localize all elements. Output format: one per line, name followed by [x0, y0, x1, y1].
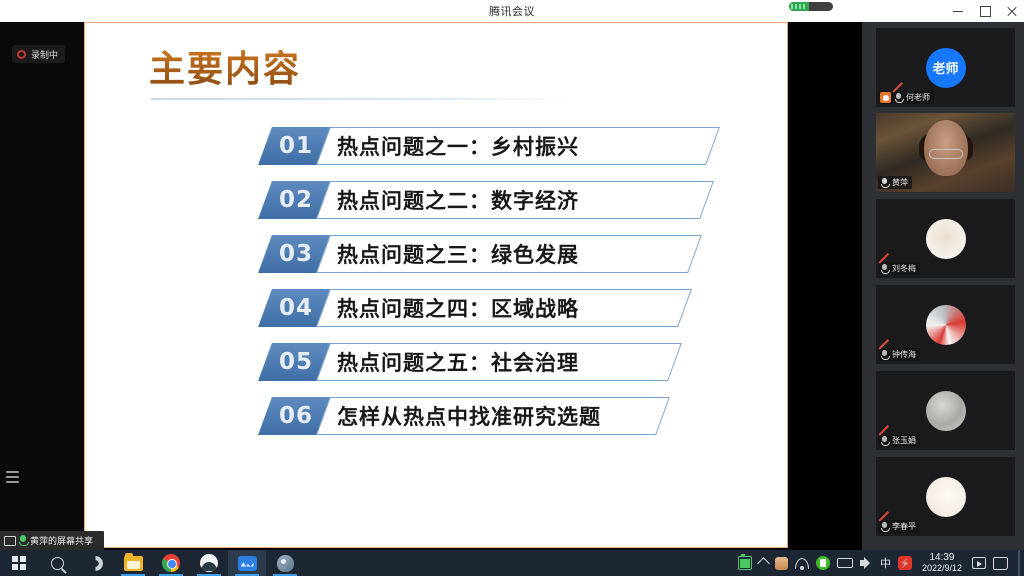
participant-label: 张玉娟: [878, 434, 920, 447]
participant-label: 黄萍: [878, 176, 912, 189]
taskbar-button-paint[interactable]: [266, 550, 304, 576]
microphone-muted-icon: [880, 521, 889, 532]
slide-item-text-wrap: 热点问题之一：乡村振兴: [337, 127, 727, 165]
shared-content-stage: 录制中 主要内容 01热点问题之一：乡村振兴02热点问题之二：数字经济03热点问…: [0, 22, 862, 550]
slide-item-number: 03: [279, 241, 313, 267]
taskbar-button-start[interactable]: [0, 550, 38, 576]
wifi-icon[interactable]: [795, 558, 809, 569]
participant-tile[interactable]: 钟传海: [876, 285, 1015, 364]
participant-label: 钟传海: [878, 348, 920, 361]
slide-item-text: 怎样从热点中找准研究选题: [337, 401, 601, 431]
shared-slide: 主要内容 01热点问题之一：乡村振兴02热点问题之二：数字经济03热点问题之三：…: [84, 22, 788, 548]
participant-name: 李春平: [892, 521, 916, 532]
windows-logo-icon: [12, 556, 26, 570]
title-underline: [151, 98, 581, 100]
left-rail: 录制中: [0, 22, 84, 550]
tencent-meeting-icon: [238, 556, 257, 571]
participant-label: 李春平: [878, 520, 920, 533]
participant-label: 刘冬梅: [878, 262, 920, 275]
network-quality-icon[interactable]: [789, 2, 833, 11]
participant-name: 刘冬梅: [892, 263, 916, 274]
search-icon: [51, 557, 64, 570]
battery-icon[interactable]: [738, 556, 752, 570]
slide-item: 02热点问题之二：数字经济: [265, 176, 757, 224]
participant-tile[interactable]: 黄萍: [876, 113, 1015, 192]
slide-item-text-wrap: 热点问题之三：绿色发展: [337, 235, 709, 273]
slide-item-number: 02: [279, 187, 313, 213]
tencent-meeting-window: 腾讯会议 录制中 主要内容 01热点问题之一：乡村振兴02热点问题之二：数字经济…: [0, 0, 1024, 576]
chevron-up-icon[interactable]: [757, 557, 770, 570]
slide-item-number: 06: [279, 403, 313, 429]
participant-tile[interactable]: 张玉娟: [876, 371, 1015, 450]
slide-item-number: 01: [279, 133, 313, 159]
participant-label: 何老师: [878, 91, 934, 104]
avatar: [926, 305, 966, 345]
folder-icon: [124, 556, 143, 571]
participant-name: 张玉娟: [892, 435, 916, 446]
slide-item-text: 热点问题之一：乡村振兴: [337, 131, 579, 161]
slide-item-number: 04: [279, 295, 313, 321]
avatar: [926, 219, 966, 259]
window-title: 腾讯会议: [489, 3, 535, 19]
shield-green-icon[interactable]: [816, 556, 830, 570]
taskbar-clock[interactable]: 14:39 2022/9/12: [919, 552, 965, 574]
slide-item-text: 热点问题之三：绿色发展: [337, 239, 579, 269]
sogou-icon[interactable]: [898, 556, 912, 570]
recording-badge: 录制中: [12, 45, 65, 63]
microphone-muted-icon: [894, 92, 903, 103]
screen-share-indicator[interactable]: 黄萍的屏幕共享: [0, 531, 104, 550]
slide-item: 03热点问题之三：绿色发展: [265, 230, 757, 278]
show-desktop-button[interactable]: [1018, 550, 1020, 576]
window-titlebar: 腾讯会议: [0, 0, 1024, 22]
slide-item-text: 热点问题之四：区域战略: [337, 293, 579, 323]
hamburger-menu-icon[interactable]: [6, 469, 22, 485]
participant-tile[interactable]: 李春平: [876, 457, 1015, 536]
microphone-muted-icon: [880, 263, 889, 274]
slide-item-list: 01热点问题之一：乡村振兴02热点问题之二：数字经济03热点问题之三：绿色发展0…: [265, 122, 757, 440]
participant-name: 何老师: [906, 92, 930, 103]
clock-date: 2022/9/12: [922, 563, 962, 574]
media-play-icon[interactable]: [972, 557, 986, 569]
taskbar-button-search[interactable]: [38, 550, 76, 576]
taskbar-button-cortana[interactable]: [76, 550, 114, 576]
windows-taskbar: 中 14:39 2022/9/12: [0, 550, 1024, 576]
microphone-icon: [19, 535, 27, 546]
maximize-icon[interactable]: [979, 5, 991, 17]
avatar-text: 老师: [932, 58, 958, 77]
slide-item-text-wrap: 热点问题之四：区域战略: [337, 289, 699, 327]
close-icon[interactable]: [1006, 5, 1018, 17]
participant-name: 黄萍: [892, 177, 908, 188]
edge-icon: [200, 554, 218, 572]
slide-item-text: 热点问题之五：社会治理: [337, 347, 579, 377]
microphone-muted-icon: [880, 435, 889, 446]
ime-chinese-icon[interactable]: 中: [880, 555, 891, 571]
action-center-icon[interactable]: [993, 557, 1008, 570]
slide-item-text: 热点问题之二：数字经济: [337, 185, 579, 215]
slide-item-text-wrap: 热点问题之五：社会治理: [337, 343, 689, 381]
taskbar-buttons: [0, 550, 304, 576]
slide-item: 01热点问题之一：乡村振兴: [265, 122, 757, 170]
clock-time: 14:39: [922, 552, 962, 563]
paint-icon: [277, 555, 294, 572]
slide-item-number: 05: [279, 349, 313, 375]
host-badge: [880, 92, 891, 103]
avatar: [926, 477, 966, 517]
taskbar-button-tencent-meeting[interactable]: [228, 550, 266, 576]
chrome-icon: [162, 554, 180, 572]
taskbar-button-edge[interactable]: [190, 550, 228, 576]
slide-item: 04热点问题之四：区域战略: [265, 284, 757, 332]
screen-share-label: 黄萍的屏幕共享: [30, 534, 93, 547]
slide-item: 06怎样从热点中找准研究选题: [265, 392, 757, 440]
slide-item: 05热点问题之五：社会治理: [265, 338, 757, 386]
avatar: 老师: [926, 48, 966, 88]
system-tray: 中 14:39 2022/9/12: [738, 550, 1024, 576]
minimize-icon[interactable]: [952, 5, 964, 17]
taskbar-button-chrome[interactable]: [152, 550, 190, 576]
slide-item-text-wrap: 热点问题之二：数字经济: [337, 181, 721, 219]
microphone-icon: [880, 177, 889, 188]
slide-title: 主要内容: [149, 49, 757, 90]
participant-tile[interactable]: 刘冬梅: [876, 199, 1015, 278]
cortana-icon: [88, 556, 103, 571]
participant-panel[interactable]: 老师何老师黄萍刘冬梅钟传海张玉娟李春平: [862, 22, 1024, 550]
speaker-icon[interactable]: [860, 557, 873, 569]
screen-share-icon: [4, 536, 16, 546]
recording-label: 录制中: [31, 48, 58, 61]
keyboard-icon[interactable]: [837, 558, 853, 568]
microphone-muted-icon: [880, 349, 889, 360]
avatar: [926, 391, 966, 431]
participant-name: 钟传海: [892, 349, 916, 360]
hand-icon[interactable]: [775, 557, 788, 570]
window-controls: [952, 0, 1018, 22]
record-dot-icon: [17, 50, 26, 59]
taskbar-button-file-explorer[interactable]: [114, 550, 152, 576]
participant-tile[interactable]: 老师何老师: [876, 28, 1015, 107]
slide-canvas: 主要内容 01热点问题之一：乡村振兴02热点问题之二：数字经济03热点问题之三：…: [85, 23, 787, 547]
slide-item-text-wrap: 怎样从热点中找准研究选题: [337, 397, 677, 435]
